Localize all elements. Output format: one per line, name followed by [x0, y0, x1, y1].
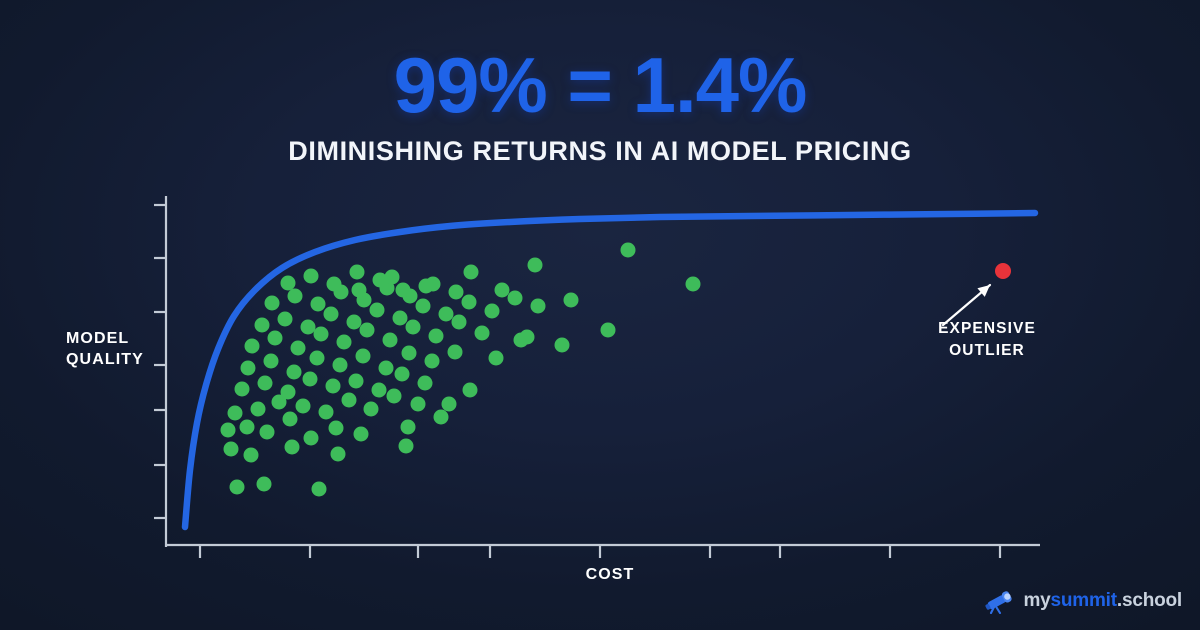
y-axis-label: MODELQUALITY — [66, 328, 162, 370]
data-point — [387, 389, 402, 404]
data-point — [686, 277, 701, 292]
data-point — [291, 341, 306, 356]
data-point — [268, 331, 283, 346]
data-point — [495, 283, 510, 298]
data-point — [356, 349, 371, 364]
data-point — [349, 374, 364, 389]
logo-text-my: my — [1023, 590, 1050, 611]
data-point — [310, 351, 325, 366]
data-point — [419, 279, 434, 294]
data-point — [463, 383, 478, 398]
data-point — [264, 354, 279, 369]
data-point — [395, 367, 410, 382]
telescope-icon — [982, 588, 1016, 614]
data-point — [520, 330, 535, 345]
x-axis-label: COST — [500, 564, 720, 585]
data-point — [418, 376, 433, 391]
data-point — [285, 440, 300, 455]
data-point — [265, 296, 280, 311]
data-point — [319, 405, 334, 420]
scatter-chart — [0, 0, 1200, 630]
data-point — [485, 304, 500, 319]
data-point — [452, 315, 467, 330]
data-point — [347, 315, 362, 330]
data-point — [304, 269, 319, 284]
data-point — [442, 397, 457, 412]
data-point — [434, 410, 449, 425]
data-point — [364, 402, 379, 417]
logo-wordmark: mysummit.school — [1023, 590, 1182, 612]
data-point — [301, 320, 316, 335]
data-point — [342, 393, 357, 408]
outlier-annotation-line1: EXPENSIVE — [872, 318, 1102, 340]
data-point — [221, 423, 236, 438]
logo-text-summit: summit — [1051, 590, 1117, 611]
data-point — [429, 329, 444, 344]
data-point — [621, 243, 636, 258]
data-point — [350, 265, 365, 280]
poster-canvas: 99% = 1.4% DIMINISHING RETURNS IN AI MOD… — [0, 0, 1200, 630]
data-point — [464, 265, 479, 280]
data-point — [331, 447, 346, 462]
data-point — [288, 289, 303, 304]
data-point — [245, 339, 260, 354]
data-point — [393, 311, 408, 326]
scatter-points — [221, 243, 701, 497]
outlier-point — [995, 263, 1011, 279]
data-point — [304, 431, 319, 446]
logo-text-school: .school — [1117, 590, 1182, 611]
data-point — [383, 333, 398, 348]
data-point — [385, 270, 400, 285]
data-point — [475, 326, 490, 341]
data-point — [224, 442, 239, 457]
data-point — [281, 385, 296, 400]
data-point — [240, 420, 255, 435]
data-point — [360, 323, 375, 338]
data-point — [329, 421, 344, 436]
data-point — [531, 299, 546, 314]
data-point — [439, 307, 454, 322]
data-point — [401, 420, 416, 435]
data-point — [324, 307, 339, 322]
data-point — [244, 448, 259, 463]
data-point — [333, 358, 348, 373]
data-point — [257, 477, 272, 492]
y-axis-label-text: MODELQUALITY — [66, 330, 144, 368]
data-point — [296, 399, 311, 414]
data-point — [489, 351, 504, 366]
data-point — [251, 402, 266, 417]
data-point — [601, 323, 616, 338]
data-point — [411, 397, 426, 412]
data-point — [258, 376, 273, 391]
data-point — [283, 412, 298, 427]
data-point — [228, 406, 243, 421]
data-point — [354, 427, 369, 442]
trend-curve — [185, 213, 1035, 527]
data-point — [241, 361, 256, 376]
data-point — [462, 295, 477, 310]
data-point — [327, 277, 342, 292]
data-point — [326, 379, 341, 394]
data-point — [312, 482, 327, 497]
data-point — [528, 258, 543, 273]
data-point — [425, 354, 440, 369]
data-point — [372, 383, 387, 398]
data-point — [337, 335, 352, 350]
data-point — [416, 299, 431, 314]
data-point — [314, 327, 329, 342]
data-point — [311, 297, 326, 312]
data-point — [402, 346, 417, 361]
data-point — [260, 425, 275, 440]
data-point — [230, 480, 245, 495]
data-point — [406, 320, 421, 335]
data-point — [508, 291, 523, 306]
data-point — [379, 361, 394, 376]
data-point — [235, 382, 250, 397]
outlier-annotation: EXPENSIVE OUTLIER — [872, 318, 1102, 362]
data-point — [448, 345, 463, 360]
data-point — [449, 285, 464, 300]
data-point — [303, 372, 318, 387]
data-point — [287, 365, 302, 380]
data-point — [278, 312, 293, 327]
chart-axes — [154, 196, 1040, 558]
outlier-data-point — [995, 263, 1011, 279]
data-point — [396, 283, 411, 298]
outlier-annotation-line2: OUTLIER — [872, 340, 1102, 362]
data-point — [352, 283, 367, 298]
data-point — [370, 303, 385, 318]
data-point — [281, 276, 296, 291]
brand-logo[interactable]: mysummit.school — [982, 588, 1182, 614]
data-point — [564, 293, 579, 308]
data-point — [399, 439, 414, 454]
data-point — [555, 338, 570, 353]
data-point — [255, 318, 270, 333]
